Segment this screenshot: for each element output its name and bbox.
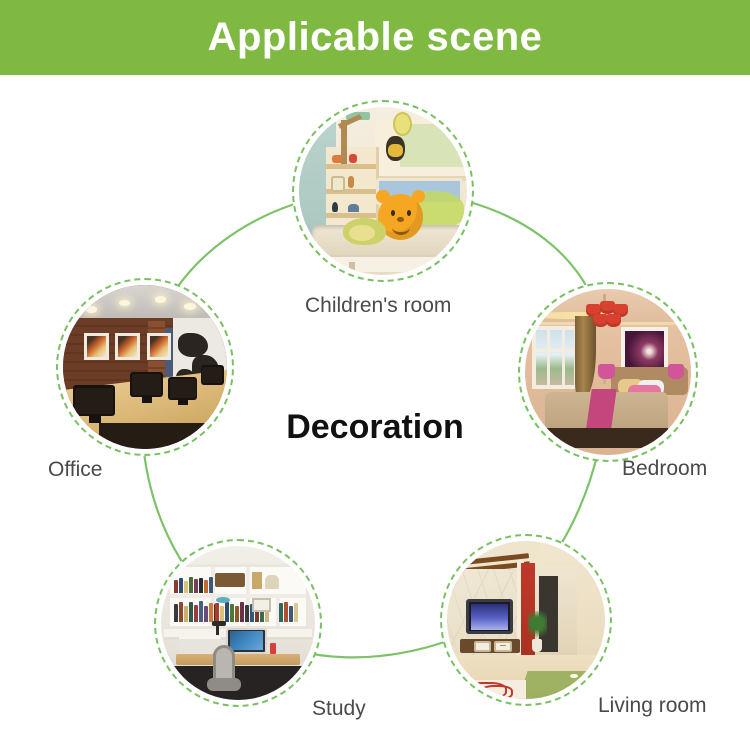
study-illustration [161,546,315,700]
office-illustration [63,285,227,449]
bedroom-image [525,289,691,455]
children-room-illustration [299,107,467,275]
office-image [63,285,227,449]
bedroom-illustration [525,289,691,455]
applicable-scene-poster: Applicable scene Decoration [0,0,750,750]
office-label: Office [48,458,102,482]
living-room-illustration [447,541,605,699]
page-title: Applicable scene [208,15,543,60]
bedroom-photo[interactable] [518,282,698,462]
study-image [161,546,315,700]
children-room-label: Children's room [305,294,451,318]
children-room-photo[interactable] [292,100,474,282]
bedroom-label: Bedroom [622,457,707,481]
children-room-image [299,107,467,275]
office-photo[interactable] [56,278,234,456]
study-photo[interactable] [154,539,322,707]
living-room-image [447,541,605,699]
study-label: Study [312,697,366,721]
header-banner: Applicable scene [0,0,750,75]
living-room-photo[interactable] [440,534,612,706]
living-room-label: Living room [598,694,707,718]
